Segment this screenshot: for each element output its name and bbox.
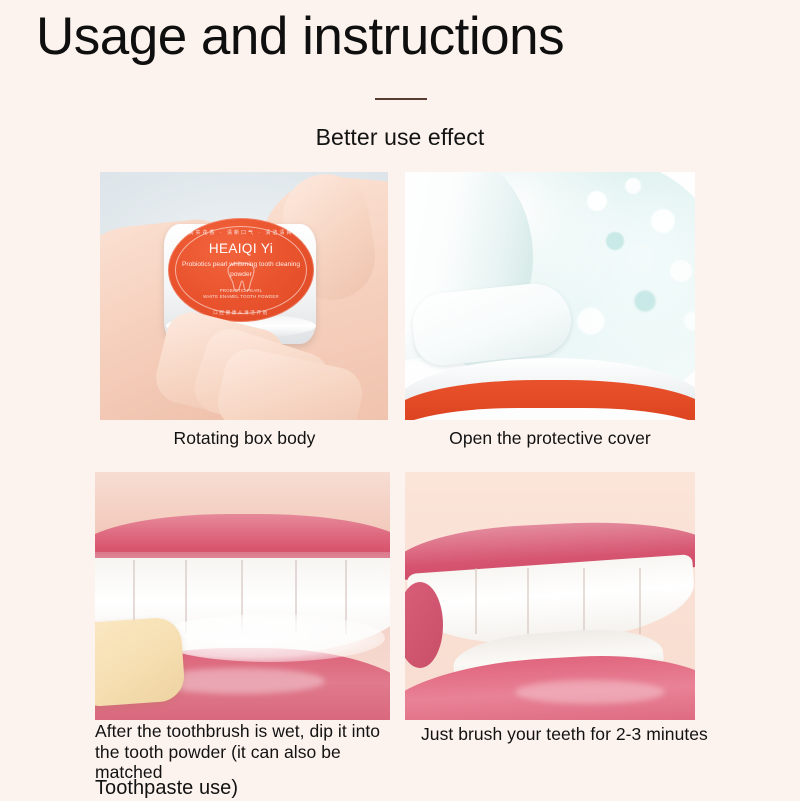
step-caption-open-protective-cover: Open the protective cover bbox=[405, 428, 695, 449]
caption-line-3: Toothpaste use) bbox=[95, 777, 405, 801]
toothbrush-head bbox=[95, 616, 186, 707]
fine-print-line-2: WHITE ENAMEL TOOTH POWDER bbox=[203, 294, 279, 299]
title-divider bbox=[375, 98, 427, 100]
tooth-separator bbox=[475, 568, 477, 634]
product-brand-name: HEAIQI Yi bbox=[168, 241, 314, 256]
toothpaste-foam bbox=[155, 614, 385, 662]
tooth-separator bbox=[639, 568, 641, 634]
open-jar-powder-photo bbox=[405, 172, 695, 420]
product-label: 真实花香 · 清新口气 · 清洁清爽 HEAIQI Yi Probiotics … bbox=[168, 218, 314, 322]
product-label-description: Probiotics pearl whitening tooth cleanin… bbox=[174, 260, 308, 280]
tooth-separator bbox=[527, 568, 529, 634]
brushing-teeth-photo bbox=[95, 472, 390, 720]
step-caption-dip-toothbrush: After the toothbrush is wet, dip it into… bbox=[95, 721, 405, 801]
step-caption-rotating-box-body: Rotating box body bbox=[67, 428, 422, 449]
lip-highlight bbox=[515, 680, 665, 704]
page-title: Usage and instructions bbox=[36, 8, 564, 65]
page-subtitle: Better use effect bbox=[0, 124, 800, 151]
smiling-teeth-photo bbox=[405, 472, 695, 720]
product-label-fine-print: PROBIOTIC PEARL WHITE ENAMEL TOOTH POWDE… bbox=[176, 288, 306, 301]
hands-holding-jar-photo: 真实花香 · 清新口气 · 清洁清爽 HEAIQI Yi Probiotics … bbox=[100, 172, 388, 420]
step-caption-brush-2-3-minutes: Just brush your teeth for 2-3 minutes bbox=[421, 724, 711, 745]
product-label-cn-top: 真实花香 · 清新口气 · 清洁清爽 bbox=[168, 229, 314, 236]
fine-print-line-1: PROBIOTIC PEARL bbox=[220, 288, 263, 293]
tooth-separator bbox=[583, 568, 585, 634]
